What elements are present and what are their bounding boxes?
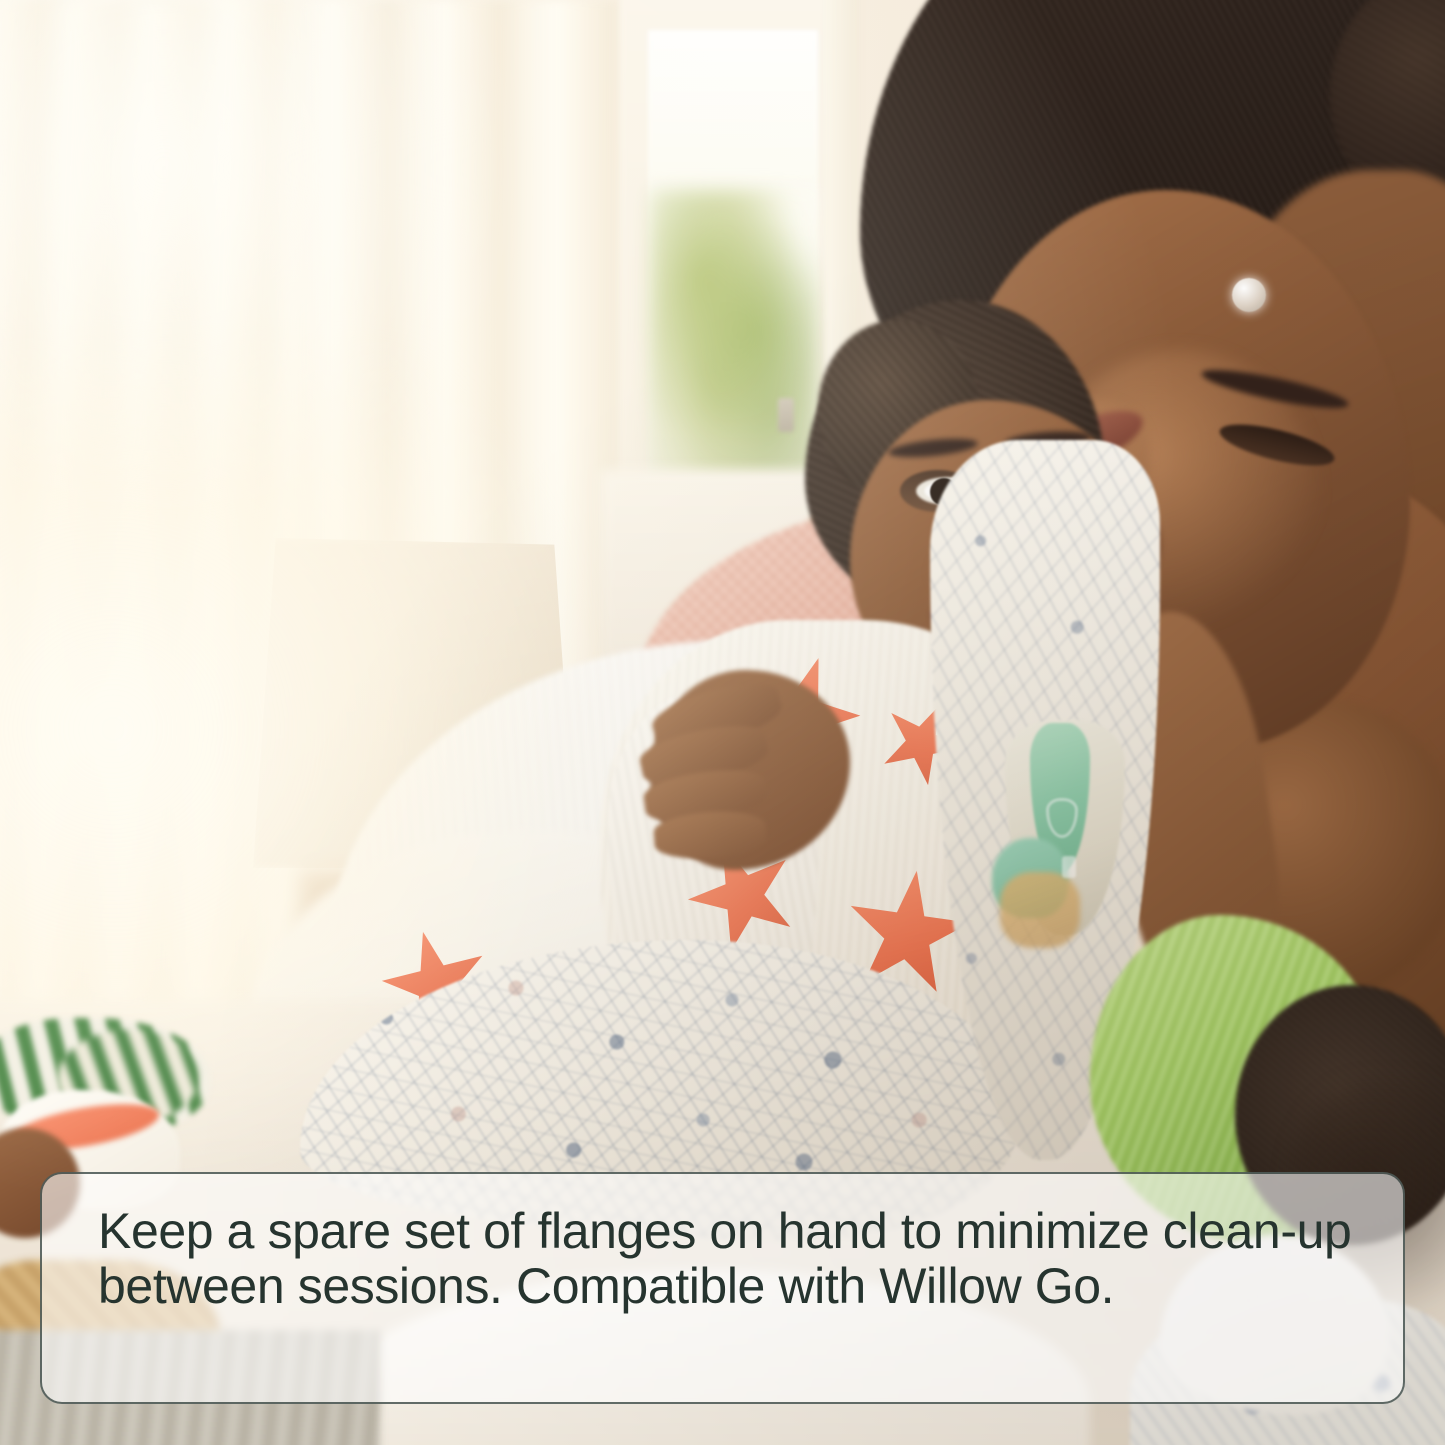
product-lifestyle-image: Keep a spare set of flanges on hand to m… (0, 0, 1445, 1445)
pearl-earring (1232, 278, 1266, 312)
window-foliage (650, 190, 818, 480)
willow-go-milk-window (1000, 872, 1080, 948)
window-latch (778, 398, 794, 432)
upper-sunlight-glow (0, 0, 500, 540)
willow-go-latch (1062, 856, 1076, 878)
caption-text: Keep a spare set of flanges on hand to m… (98, 1204, 1361, 1314)
caption-overlay-box: Keep a spare set of flanges on hand to m… (40, 1172, 1405, 1404)
